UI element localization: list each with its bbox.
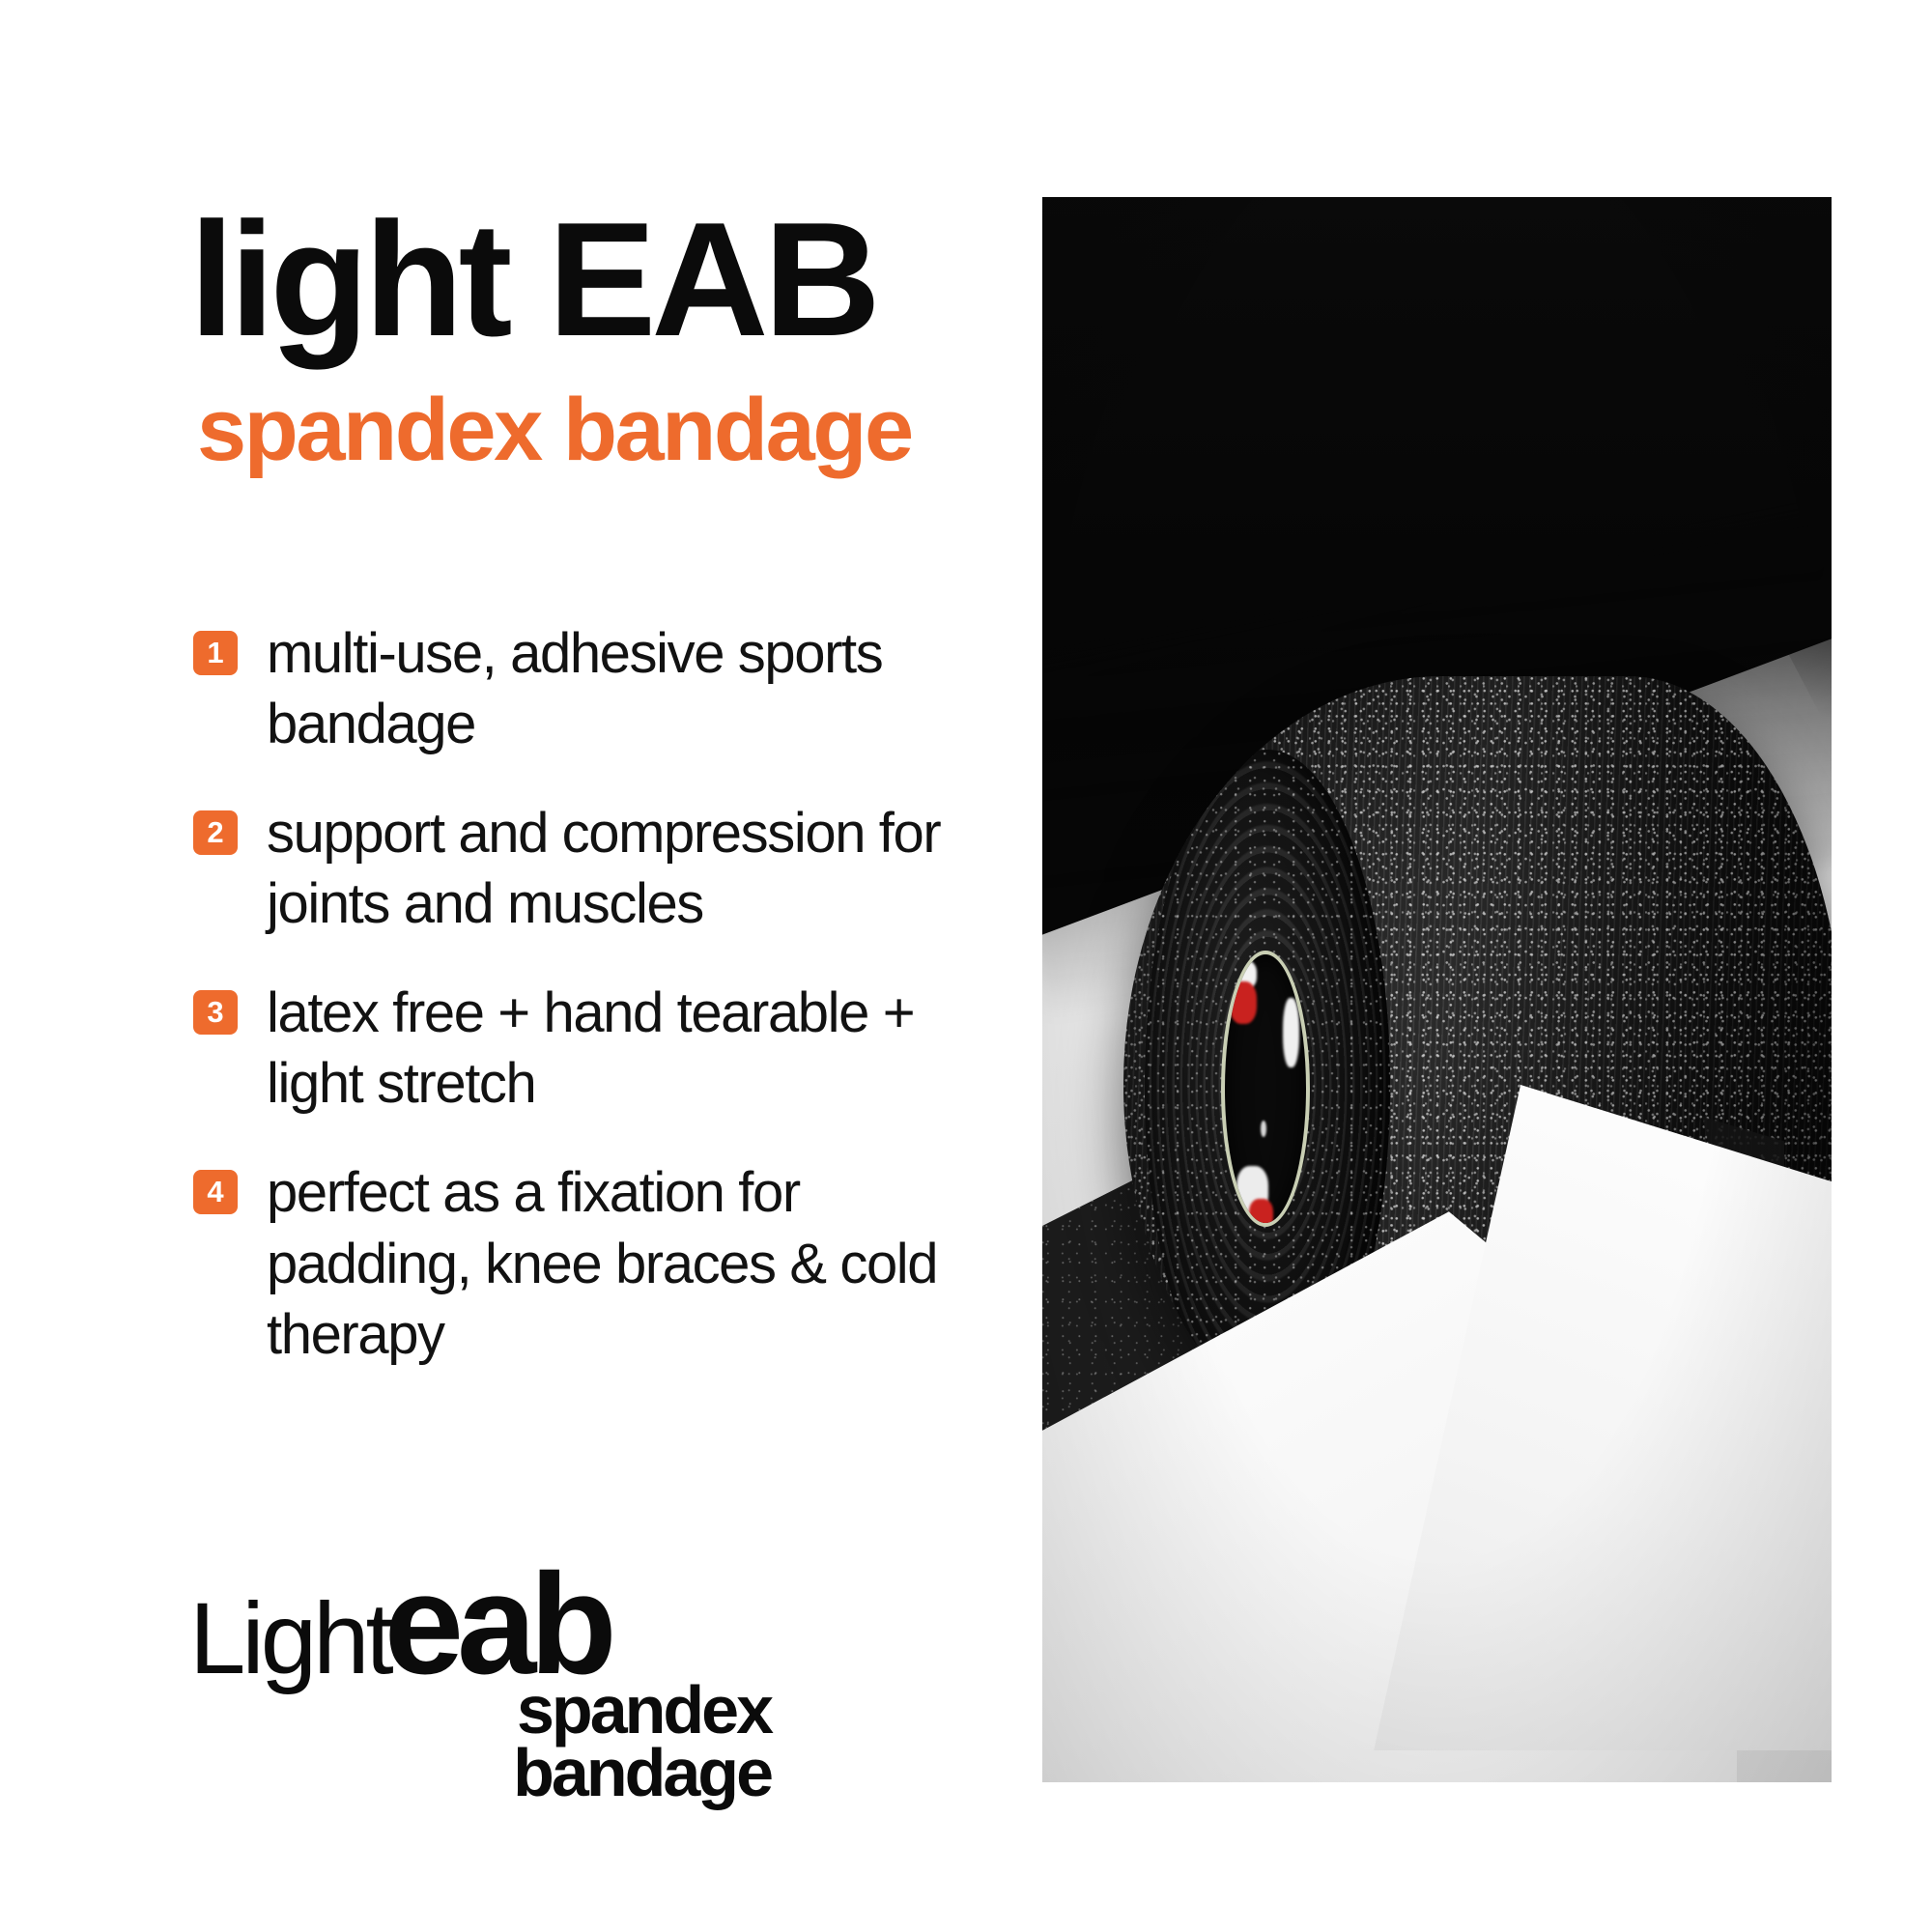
headline-block: light EAB spandex bandage: [189, 198, 981, 474]
list-item: 2 support and compression for joints and…: [193, 798, 995, 939]
logo-tagline-line-bandage: bandage: [189, 1742, 771, 1804]
core-label-fragment-white-right: [1283, 998, 1299, 1067]
page-subtitle: spandex bandage: [189, 360, 981, 474]
feature-number-badge: 1: [193, 631, 238, 675]
logo-word-light: Light: [189, 1588, 390, 1690]
list-item: 3 latex free + hand tearable + light str…: [193, 978, 995, 1119]
list-item: 1 multi-use, adhesive sports bandage: [193, 618, 995, 759]
page-title: light EAB: [189, 198, 981, 360]
feature-text: multi-use, adhesive sports bandage: [267, 618, 995, 759]
list-item: 4 perfect as a fixation for padding, kne…: [193, 1157, 995, 1369]
brand-logo: Light eab spandex bandage: [189, 1553, 788, 1804]
feature-text: latex free + hand tearable + light stret…: [267, 978, 995, 1119]
feature-text: support and compression for joints and m…: [267, 798, 995, 939]
core-label-fragment-red-top: [1230, 981, 1258, 1024]
core-label-fragment-red-bottom: [1249, 1199, 1273, 1227]
feature-number-badge: 2: [193, 810, 238, 855]
feature-text: perfect as a fixation for padding, knee …: [267, 1157, 995, 1369]
roll-core-hole: [1221, 951, 1310, 1226]
feature-number-badge: 3: [193, 990, 238, 1035]
product-photo: [1042, 197, 1832, 1782]
core-highlight-speck: [1261, 1121, 1266, 1137]
feature-number-badge: 4: [193, 1170, 238, 1214]
product-feature-card: light EAB spandex bandage 1 multi-use, a…: [0, 0, 1932, 1932]
text-column: light EAB spandex bandage 1 multi-use, a…: [0, 0, 1024, 1932]
feature-list: 1 multi-use, adhesive sports bandage 2 s…: [193, 618, 995, 1408]
